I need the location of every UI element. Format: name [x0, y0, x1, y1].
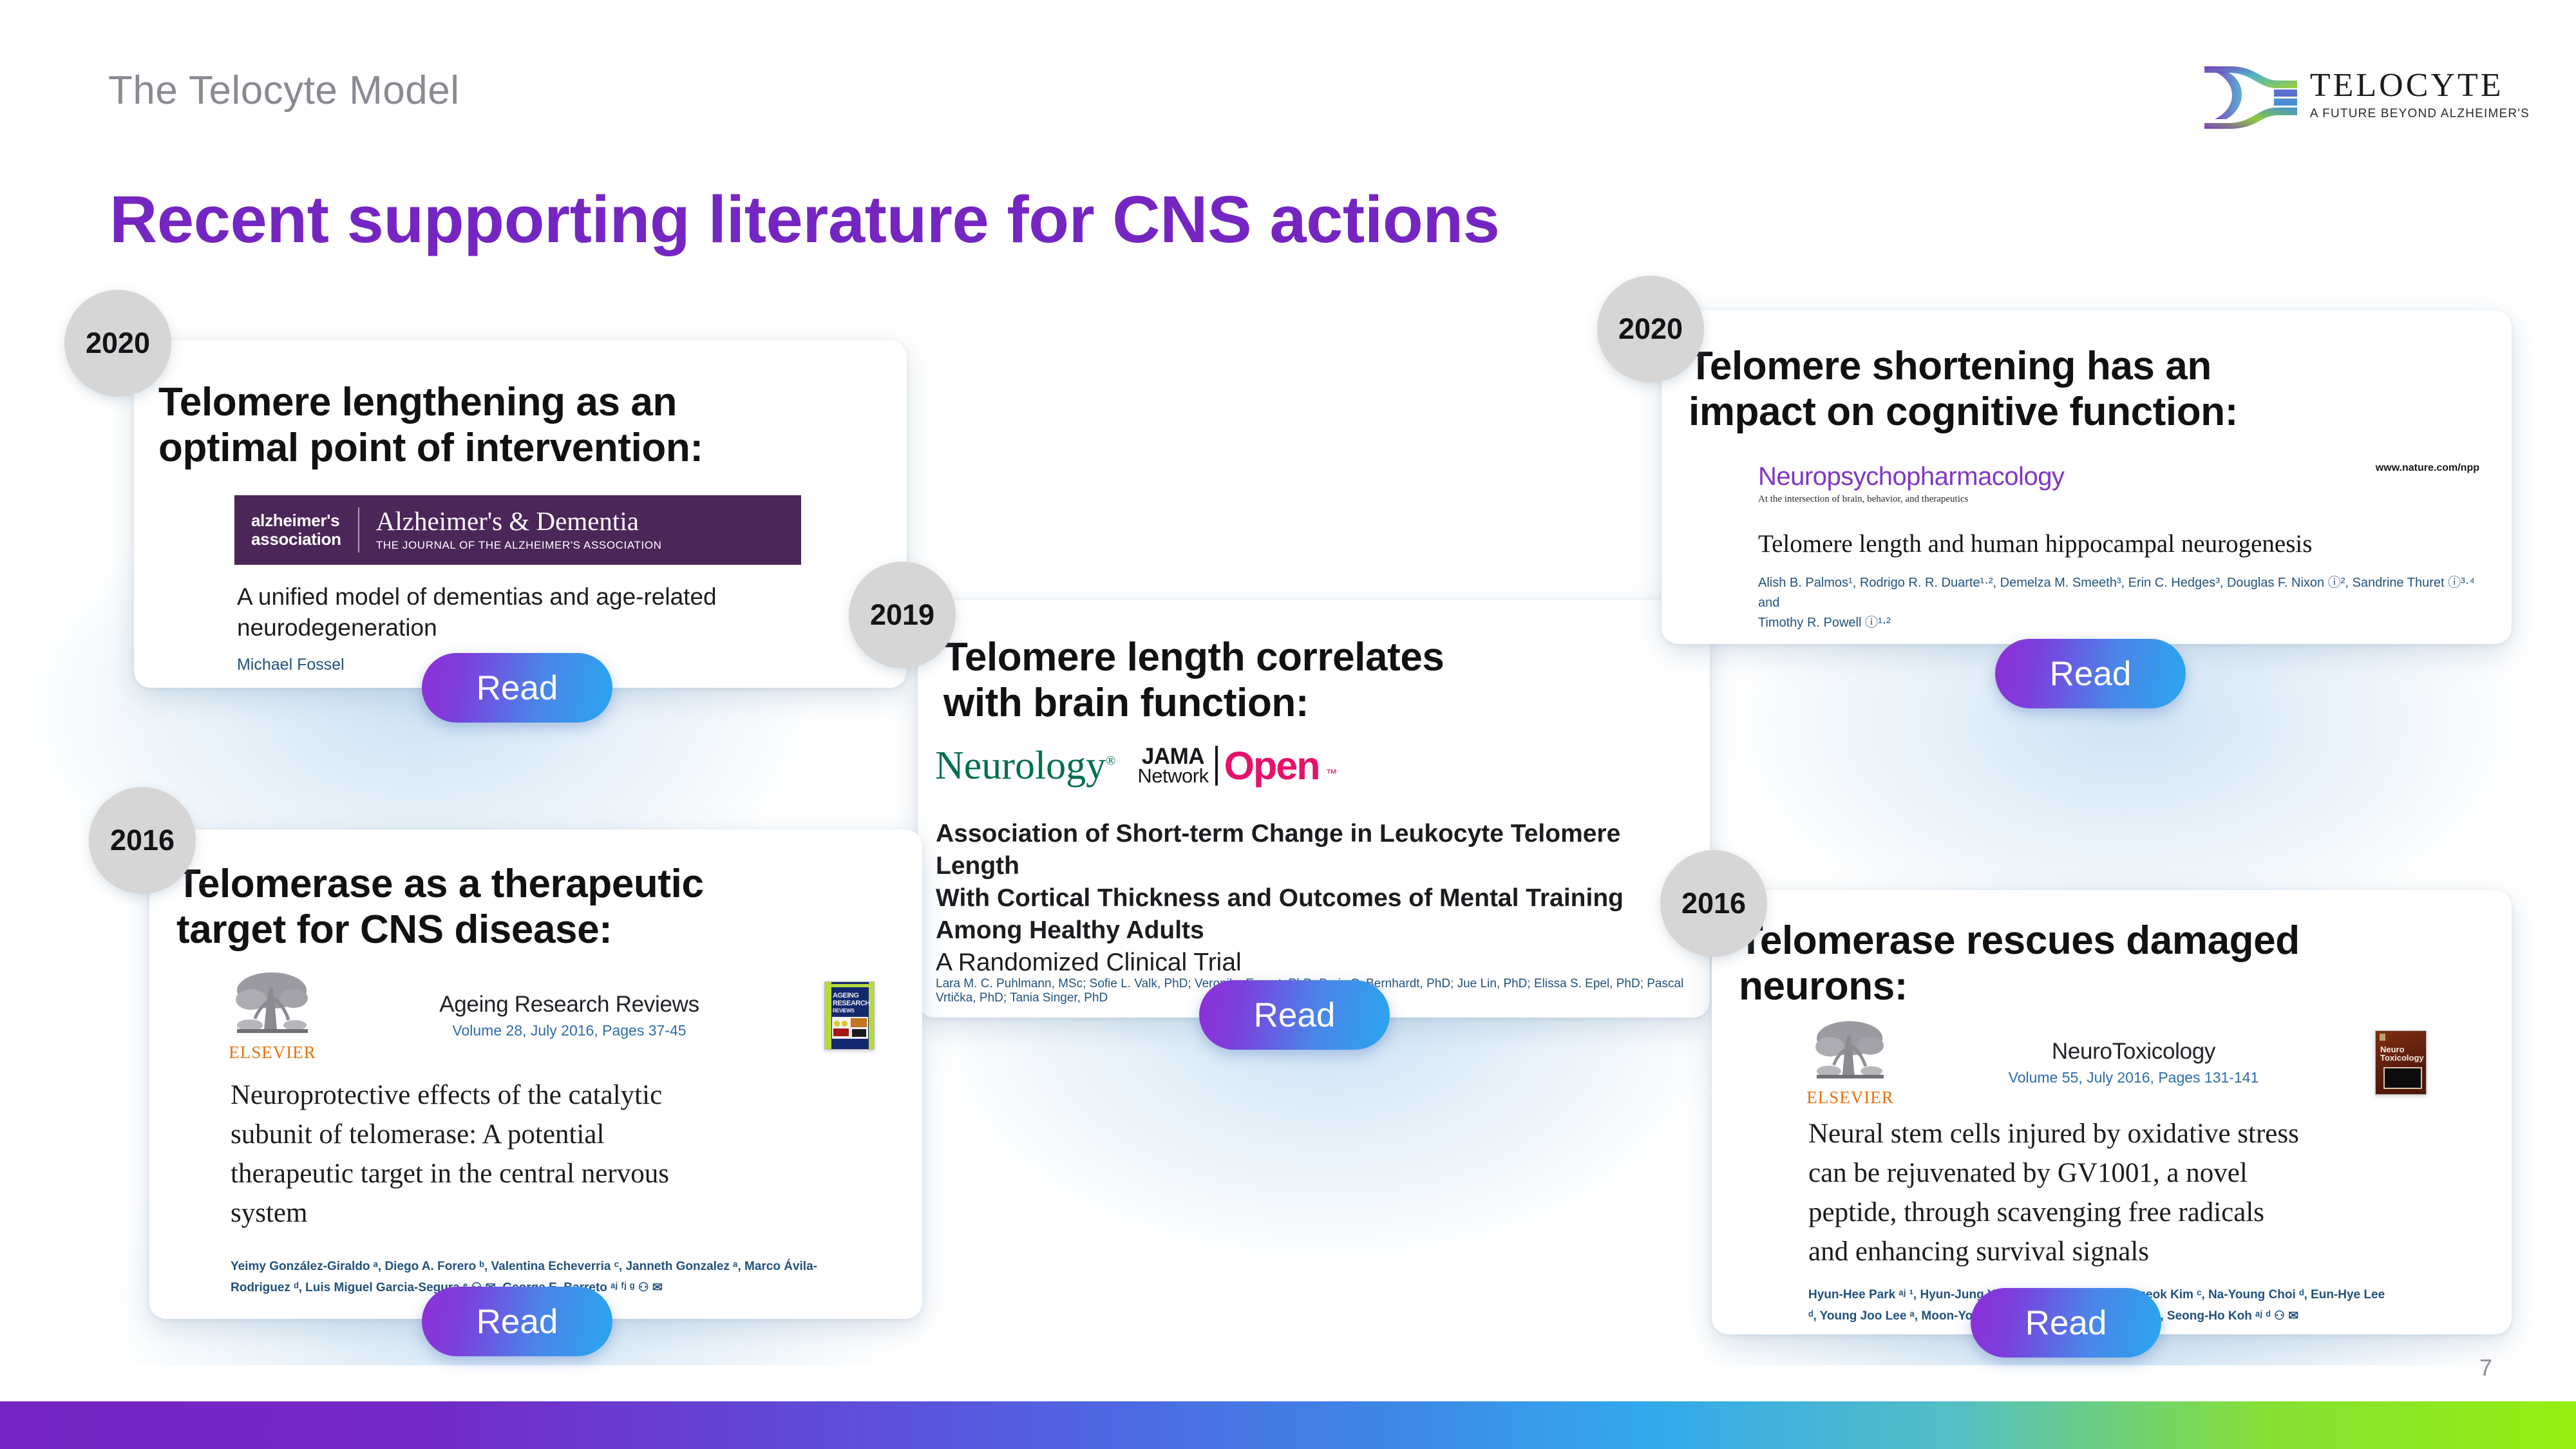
year-badge-label: 2020: [1618, 312, 1683, 346]
card-title: Telomere shortening has an impact on cog…: [1689, 344, 2506, 435]
read-button-card-2[interactable]: Read: [1199, 980, 1390, 1050]
journal-logos-neurology-jama: Neurology® JAMA Network Open™: [935, 743, 1337, 788]
journal-volume: Volume 55, July 2016, Pages 131-141: [1904, 1069, 2363, 1086]
year-badge-label: 2016: [1681, 887, 1746, 920]
read-button-card-3[interactable]: Read: [1995, 639, 2186, 708]
journal-name: NeuroToxicology: [1904, 1039, 2363, 1065]
journal-name: Ageing Research Reviews: [326, 992, 813, 1018]
card-telomere-length-brain[interactable]: Telomere length correlates with brain fu…: [918, 600, 1710, 1018]
card-telomerase-cns[interactable]: Telomerase as a therapeutic target for C…: [149, 829, 922, 1319]
journal-volume: Volume 28, July 2016, Pages 37-45: [326, 1022, 813, 1039]
jama-network-open-logo: JAMA Network Open™: [1137, 743, 1337, 788]
year-badge-label: 2016: [110, 824, 175, 857]
elsevier-tree-icon: [234, 969, 310, 1041]
page-number: 7: [2479, 1354, 2492, 1381]
journal-name: Neuropsychopharmacology: [1758, 462, 2064, 491]
journal-publisher-logo: alzheimer's association: [251, 511, 341, 549]
read-button-card-5[interactable]: Read: [1971, 1288, 2161, 1358]
year-badge-label: 2019: [870, 598, 934, 632]
year-badge-2020-left: 2020: [64, 290, 171, 397]
card-title: Telomere length correlates with brain fu…: [943, 635, 1703, 726]
paper-title: Telomere length and human hippocampal ne…: [1758, 529, 2312, 558]
journal-cover-thumbnail: NeuroToxicology: [2375, 1030, 2427, 1095]
card-telomerase-rescues[interactable]: Telomerase rescues damaged neurons: ELSE…: [1712, 890, 2512, 1334]
dna-helix-icon: [2202, 61, 2298, 129]
read-button-card-4[interactable]: Read: [422, 1287, 612, 1356]
divider: [358, 507, 359, 552]
year-badge-2016-right: 2016: [1660, 850, 1767, 957]
read-button-card-1[interactable]: Read: [422, 653, 612, 723]
deck-eyebrow: The Telocyte Model: [108, 68, 459, 113]
paper-authors: Alish B. Palmos¹, Rodrigo R. R. Duarte¹·…: [1758, 573, 2492, 633]
card-title: Telomere lengthening as an optimal point…: [158, 380, 893, 471]
year-badge-2019: 2019: [849, 562, 956, 668]
year-badge-2020-right: 2020: [1597, 276, 1704, 383]
journal-header-ageing-research-reviews: ELSEVIER Ageing Research Reviews Volume …: [231, 969, 875, 1063]
paper-subtitle: A Randomized Clinical Trial: [936, 947, 1702, 979]
divider: [1215, 746, 1218, 786]
elsevier-logo: ELSEVIER: [1808, 1018, 1892, 1108]
journal-cover-thumbnail: AGEINGRESEARCHREVIEWS: [824, 981, 875, 1050]
telocyte-logo: TELOCYTE A FUTURE BEYOND ALZHEIMER'S: [2202, 61, 2530, 129]
elsevier-tree-icon: [1814, 1018, 1886, 1086]
paper-title: Association of Short-term Change in Leuk…: [936, 818, 1702, 979]
journal-banner-alzheimers-dementia: alzheimer's association Alzheimer's & De…: [234, 495, 801, 565]
journal-name-block: Alzheimer's & Dementia THE JOURNAL OF TH…: [376, 508, 662, 552]
logo-tagline: A FUTURE BEYOND ALZHEIMER'S: [2310, 107, 2530, 121]
year-badge-2016-left: 2016: [89, 787, 196, 894]
footer-gradient-bar: [0, 1401, 2576, 1449]
page-title: Recent supporting literature for CNS act…: [109, 182, 1499, 258]
year-badge-label: 2020: [86, 327, 150, 360]
logo-wordmark: TELOCYTE: [2310, 69, 2530, 102]
paper-title: A unified model of dementias and age-rel…: [237, 582, 849, 643]
neurology-logo: Neurology®: [935, 747, 1115, 785]
card-telomere-shortening[interactable]: Telomere shortening has an impact on cog…: [1662, 310, 2512, 644]
paper-authors: Michael Fossel: [237, 656, 345, 674]
paper-title: Neural stem cells injured by oxidative s…: [1808, 1114, 2465, 1271]
journal-url: www.nature.com/npp: [2376, 462, 2479, 474]
elsevier-logo: ELSEVIER: [231, 969, 314, 1063]
paper-title: Neuroprotective effects of the catalytic…: [231, 1075, 887, 1233]
card-title: Telomerase rescues damaged neurons:: [1739, 918, 2505, 1009]
journal-header-neuropsychopharmacology: Neuropsychopharmacology At the intersect…: [1758, 462, 2479, 505]
card-telomere-lengthening[interactable]: Telomere lengthening as an optimal point…: [134, 340, 907, 688]
card-title: Telomerase as a therapeutic target for C…: [176, 862, 917, 952]
journal-header-neurotoxicology: ELSEVIER NeuroToxicology Volume 55, July…: [1808, 1018, 2427, 1108]
journal-subtitle: At the intersection of brain, behavior, …: [1758, 494, 2064, 505]
